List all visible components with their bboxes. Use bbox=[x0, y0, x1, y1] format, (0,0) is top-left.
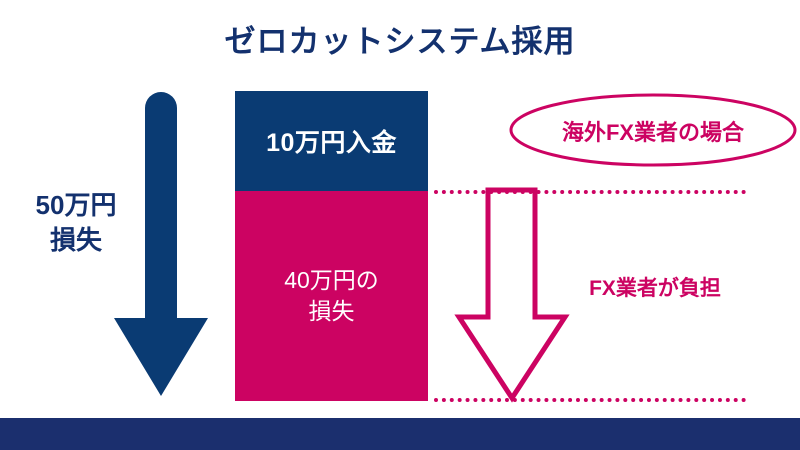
infographic-canvas: ゼロカットシステム採用 50万円 損失 10万円入金 40万円の損失 海外FX業… bbox=[0, 0, 800, 450]
left-loss-label-line1: 50万円 bbox=[36, 190, 117, 220]
bar-segment-loss-label: 40万円の損失 bbox=[284, 265, 379, 327]
page-title: ゼロカットシステム採用 bbox=[0, 16, 800, 61]
stacked-bar: 10万円入金 40万円の損失 bbox=[235, 91, 428, 401]
outlined-down-arrow-icon bbox=[452, 186, 574, 406]
bar-segment-deposit-label: 10万円入金 bbox=[266, 123, 397, 159]
left-loss-label: 50万円 損失 bbox=[10, 188, 142, 258]
callout-label: 海外FX業者の場合 bbox=[508, 115, 798, 147]
burden-note-label: FX業者が負担 bbox=[560, 272, 750, 302]
left-loss-label-line2: 損失 bbox=[50, 225, 102, 255]
bar-segment-loss-line1: 40万円の bbox=[284, 267, 379, 293]
bar-segment-loss: 40万円の損失 bbox=[235, 191, 428, 401]
bar-segment-loss-line2: 損失 bbox=[309, 298, 355, 324]
bottom-band bbox=[0, 418, 800, 450]
bar-segment-deposit: 10万円入金 bbox=[235, 91, 428, 191]
